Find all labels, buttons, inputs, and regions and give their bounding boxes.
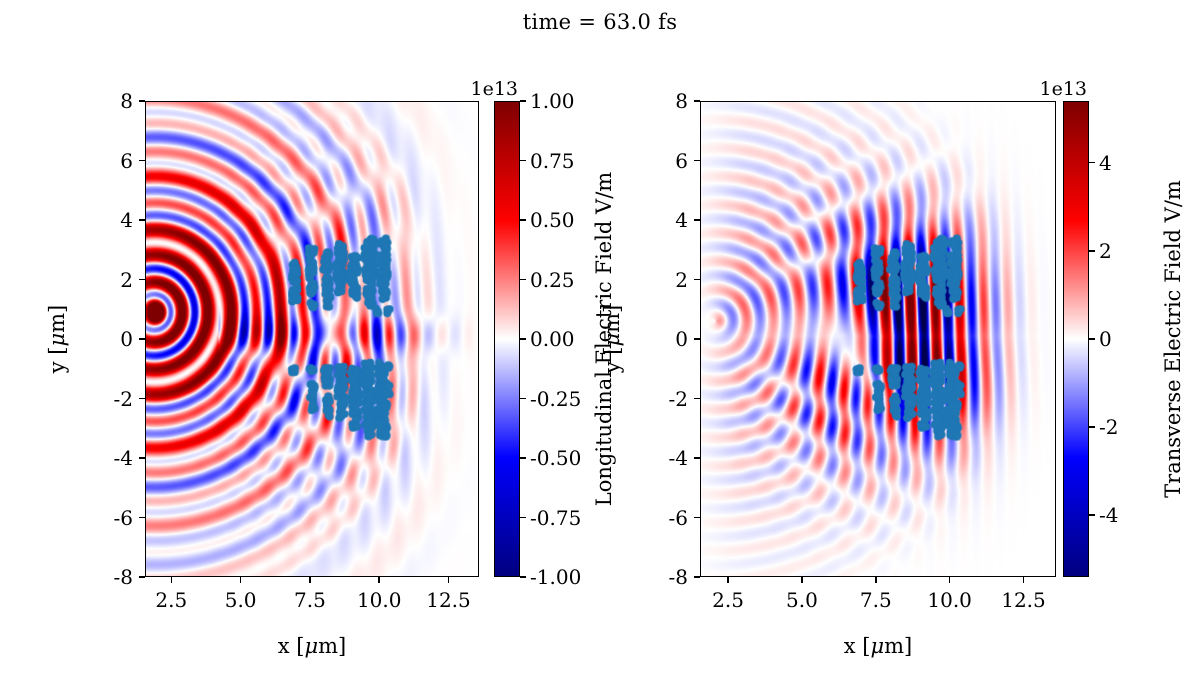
x-tick-label: 10.0 (927, 590, 972, 610)
colorbar-tick-mark (1089, 250, 1095, 252)
y-tick-mark (139, 338, 145, 340)
x-tick-label: 7.5 (294, 590, 326, 610)
y-tick-label: -8 (75, 567, 133, 587)
y-tick-mark (139, 576, 145, 578)
x-tick-mark (240, 577, 242, 583)
y-tick-mark (139, 160, 145, 162)
y-axis-label-right: y [μm] (602, 305, 623, 374)
colorbar-longitudinal (494, 101, 520, 577)
x-tick-mark (801, 577, 803, 583)
colorbar-offset-right: 1e13 (1039, 80, 1087, 99)
colorbar-tick-mark (520, 100, 526, 102)
figure-canvas: time = 63.0 fs 86420-2-4-6-82.55.07.510.… (0, 0, 1200, 675)
y-tick-label: -4 (75, 448, 133, 468)
colorbar-tick-label: 0.00 (530, 329, 575, 349)
colorbar-tick-mark (520, 160, 526, 162)
colorbar-tick-label: -2 (1099, 417, 1118, 437)
x-tick-label: 7.5 (860, 590, 892, 610)
x-tick-mark (171, 577, 173, 583)
y-tick-mark (139, 398, 145, 400)
x-tick-label: 12.5 (426, 590, 471, 610)
y-tick-label: -2 (630, 389, 688, 409)
y-tick-label: -6 (75, 508, 133, 528)
y-tick-label: 8 (630, 91, 688, 111)
panel-longitudinal-axes (145, 101, 479, 577)
colorbar-tick-mark (520, 219, 526, 221)
colorbar-tick-label: -0.50 (530, 448, 581, 468)
x-tick-label: 2.5 (712, 590, 744, 610)
y-tick-label: 0 (630, 329, 688, 349)
colorbar-tick-label: 4 (1099, 153, 1112, 173)
y-tick-label: 2 (75, 270, 133, 290)
y-tick-label: 6 (75, 151, 133, 171)
colorbar-tick-mark (1089, 162, 1095, 164)
y-axis-label-left: y [μm] (47, 305, 68, 374)
y-tick-label: -6 (630, 508, 688, 528)
y-tick-label: 8 (75, 91, 133, 111)
x-tick-mark (875, 577, 877, 583)
x-tick-label: 10.0 (357, 590, 402, 610)
y-tick-mark (139, 279, 145, 281)
colorbar-tick-mark (520, 338, 526, 340)
colorbar-tick-mark (1089, 514, 1095, 516)
y-tick-label: 4 (75, 210, 133, 230)
y-tick-mark (139, 517, 145, 519)
colorbar-tick-label: -4 (1099, 505, 1118, 525)
colorbar-tick-label: 0 (1099, 329, 1112, 349)
colorbar-tick-label: -0.75 (530, 508, 581, 528)
colorbar-tick-mark (520, 279, 526, 281)
particle-scatter-right (701, 102, 1055, 576)
y-tick-mark (139, 100, 145, 102)
y-tick-label: -4 (630, 448, 688, 468)
x-tick-mark (949, 577, 951, 583)
y-tick-mark (694, 576, 700, 578)
colorbar-tick-mark (520, 517, 526, 519)
y-tick-mark (694, 100, 700, 102)
y-tick-label: 2 (630, 270, 688, 290)
y-tick-mark (694, 160, 700, 162)
colorbar-offset-left: 1e13 (470, 80, 518, 99)
x-tick-label: 12.5 (1001, 590, 1046, 610)
x-axis-label-right: x [μm] (844, 636, 912, 657)
x-axis-label-left: x [μm] (278, 636, 346, 657)
panel-transverse-axes (700, 101, 1056, 577)
colorbar-tick-label: 0.75 (530, 151, 575, 171)
colorbar-tick-label: 0.25 (530, 270, 575, 290)
y-tick-label: 0 (75, 329, 133, 349)
colorbar-label-transverse: Transverse Electric Field V/m (1163, 180, 1184, 498)
y-tick-mark (694, 398, 700, 400)
particle-scatter-left (146, 102, 478, 576)
x-tick-mark (309, 577, 311, 583)
colorbar-tick-label: 2 (1099, 241, 1112, 261)
x-tick-label: 5.0 (225, 590, 257, 610)
x-tick-mark (727, 577, 729, 583)
x-tick-label: 2.5 (155, 590, 187, 610)
y-tick-mark (694, 219, 700, 221)
x-tick-mark (378, 577, 380, 583)
y-tick-mark (694, 457, 700, 459)
colorbar-tick-mark (520, 576, 526, 578)
y-tick-mark (139, 457, 145, 459)
colorbar-tick-label: -0.25 (530, 389, 581, 409)
y-tick-mark (694, 517, 700, 519)
colorbar-tick-mark (1089, 338, 1095, 340)
x-tick-mark (448, 577, 450, 583)
colorbar-tick-mark (1089, 426, 1095, 428)
colorbar-tick-mark (520, 398, 526, 400)
y-tick-label: -2 (75, 389, 133, 409)
colorbar-tick-mark (520, 457, 526, 459)
colorbar-tick-label: 0.50 (530, 210, 575, 230)
y-tick-label: -8 (630, 567, 688, 587)
x-tick-label: 5.0 (786, 590, 818, 610)
y-tick-mark (694, 338, 700, 340)
y-tick-label: 6 (630, 151, 688, 171)
figure-title: time = 63.0 fs (0, 10, 1200, 34)
y-tick-mark (694, 279, 700, 281)
y-tick-mark (139, 219, 145, 221)
x-tick-mark (1023, 577, 1025, 583)
colorbar-tick-label: -1.00 (530, 567, 581, 587)
colorbar-tick-label: 1.00 (530, 91, 575, 111)
y-tick-label: 4 (630, 210, 688, 230)
colorbar-transverse (1063, 101, 1089, 577)
